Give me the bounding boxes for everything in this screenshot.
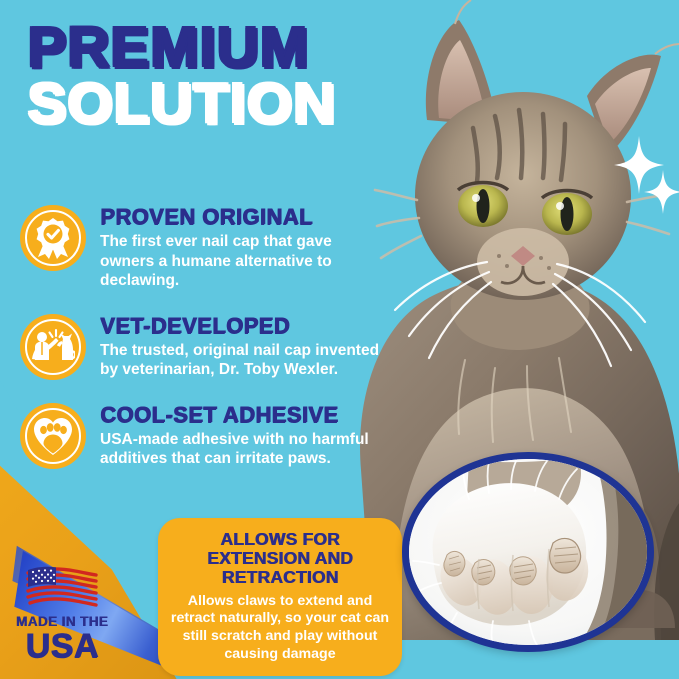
headline-line-2: SOLUTION: [28, 78, 436, 130]
heart-paw-icon: [20, 403, 86, 469]
feature-text-block: VET-DEVELOPED The trusted, original nail…: [100, 312, 390, 380]
feature-item-cool-set-adhesive: COOL-SET ADHESIVE USA-made adhesive with…: [20, 401, 410, 469]
vet-high-five-cat-icon: [20, 314, 86, 380]
feature-text-block: PROVEN ORIGINAL The first ever nail cap …: [100, 203, 390, 291]
feature-description: USA-made adhesive with no harmful additi…: [100, 430, 390, 469]
usa-flag-icon: [25, 566, 99, 610]
callout-title: ALLOWS FOR EXTENSION AND RETRACTION: [170, 530, 390, 587]
cat-paw-with-nail-caps-closeup: [402, 452, 654, 652]
feature-title: PROVEN ORIGINAL: [100, 205, 390, 228]
headline: PREMIUM SOLUTION: [28, 22, 428, 131]
feature-list: PROVEN ORIGINAL The first ever nail cap …: [20, 203, 410, 490]
award-ribbon-icon: [20, 205, 86, 271]
callout-box: ALLOWS FOR EXTENSION AND RETRACTION Allo…: [158, 518, 402, 676]
feature-item-vet-developed: VET-DEVELOPED The trusted, original nail…: [20, 312, 410, 380]
made-in-usa-badge: MADE IN THE USA: [10, 566, 114, 664]
product-feature-banner: PREMIUM SOLUTION PROVEN ORIGINAL The fir…: [0, 0, 679, 679]
feature-text-block: COOL-SET ADHESIVE USA-made adhesive with…: [100, 401, 390, 469]
feature-description: The trusted, original nail cap invented …: [100, 341, 390, 380]
made-in-usa-line-2: USA: [10, 629, 114, 663]
callout-body: Allows claws to extend and retract natur…: [170, 593, 390, 663]
feature-description: The first ever nail cap that gave owners…: [100, 232, 390, 291]
headline-line-1: PREMIUM: [28, 22, 436, 74]
sparkle-small-icon: [644, 170, 679, 219]
feature-item-proven-original: PROVEN ORIGINAL The first ever nail cap …: [20, 203, 410, 291]
made-in-usa-line-1: MADE IN THE: [10, 615, 114, 629]
feature-title: COOL-SET ADHESIVE: [100, 403, 390, 426]
feature-title: VET-DEVELOPED: [100, 314, 390, 337]
